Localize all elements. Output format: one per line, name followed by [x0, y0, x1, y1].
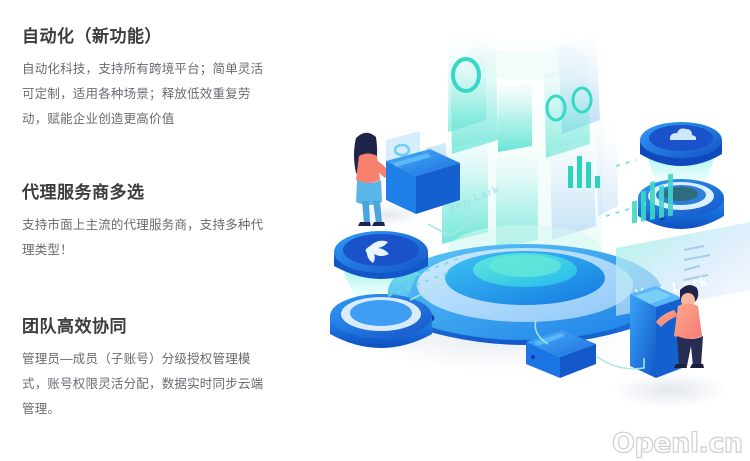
feature-description: 管理员—成员（子账号）分级授权管理模式，账号权限灵活分配，数据实时同步云端管理。 — [22, 347, 272, 422]
hero-illustration: Yun Lark — [300, 0, 750, 461]
person-right-shoe-a — [674, 364, 687, 368]
person-right-shoe-b — [690, 364, 704, 368]
shadow-kiosk — [612, 372, 728, 408]
person-shoe-b — [372, 222, 385, 226]
person-shoe-a — [358, 222, 371, 226]
feature-item-team-collaboration: 团队高效协同 管理员—成员（子账号）分级授权管理模式，账号权限灵活分配，数据实时… — [22, 316, 272, 422]
person-right-pants — [677, 336, 703, 366]
feature-item-automation: 自动化（新功能） 自动化科技，支持所有跨境平台；简单灵活可定制，适用各种场景；释… — [22, 26, 272, 132]
tower-panel-upper-center — [498, 82, 532, 152]
central-data-tower: Yun Lark — [442, 27, 618, 275]
watermark-openl: Openl.cn — [612, 428, 743, 459]
feature-title: 团队高效协同 — [22, 316, 272, 338]
feature-title: 代理服务商多选 — [22, 182, 272, 204]
feature-item-proxy-providers: 代理服务商多选 支持市面上主流的代理服务商，支持多种代理类型！ — [22, 182, 272, 263]
feature-title: 自动化（新功能） — [22, 26, 272, 48]
page-root: 自动化（新功能） 自动化科技，支持所有跨境平台；简单灵活可定制，适用各种场景；释… — [0, 0, 750, 461]
kiosk-left — [630, 294, 656, 378]
feature-list: 自动化（新功能） 自动化科技，支持所有跨境平台；简单灵活可定制，适用各种场景；释… — [0, 0, 300, 461]
tower-panel-lower-far-right — [596, 124, 618, 216]
feature-description: 自动化科技，支持所有跨境平台；简单灵活可定制，适用各种场景；释放低效重复劳动，赋… — [22, 57, 272, 132]
tower-panel-lower-right — [550, 138, 596, 240]
feature-description: 支持市面上主流的代理服务商，支持多种代理类型！ — [22, 213, 272, 263]
person-right-shirt — [674, 304, 702, 340]
